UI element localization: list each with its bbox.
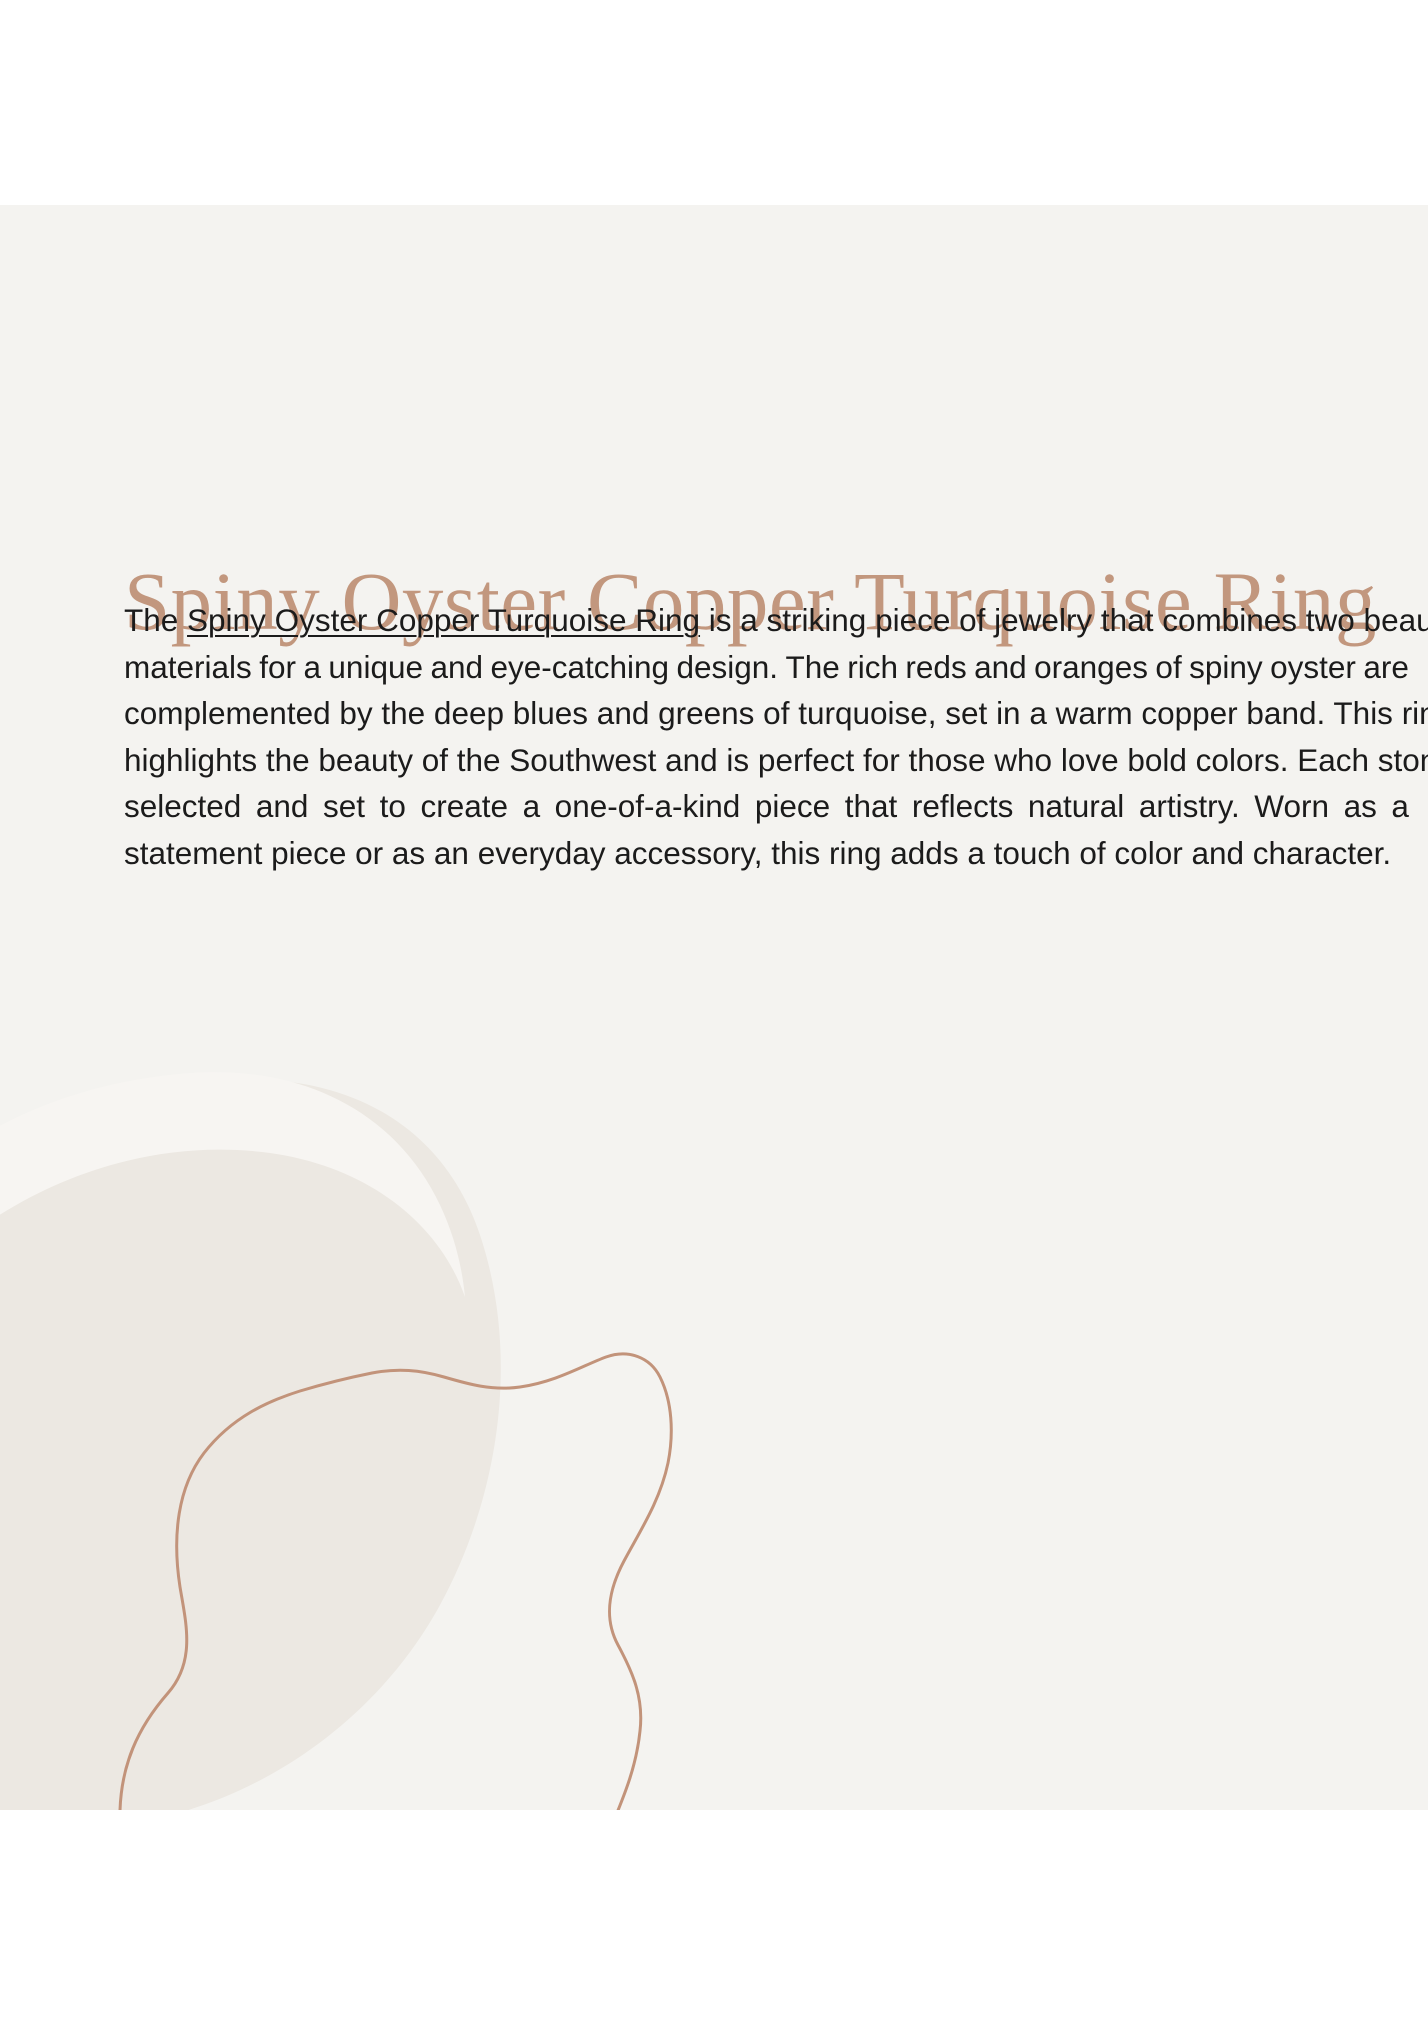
word: a (1391, 783, 1409, 830)
word: to (380, 783, 406, 830)
line-suffix-text: is a striking piece of jewelry that comb… (700, 602, 1428, 638)
word: create (420, 783, 508, 830)
word: eye-catching (490, 644, 669, 691)
word: are (1363, 644, 1409, 691)
blob-highlight-arc (0, 1072, 465, 1325)
paragraph-line: complemented by the deep blues and green… (124, 690, 1428, 737)
paragraph-line: selected and set to create a one-of-a-ki… (124, 783, 1409, 830)
word: Worn (1254, 783, 1329, 830)
word: of (1155, 644, 1181, 691)
word: design. (676, 644, 778, 691)
word: unique (328, 644, 423, 691)
word: piece (755, 783, 830, 830)
paragraph-line: The Spiny Oyster Copper Turquoise Ring i… (124, 597, 1428, 644)
word: artistry. (1139, 783, 1240, 830)
paragraph-line: highlights the beauty of the Southwest a… (124, 737, 1428, 784)
line-prefix-text: The (124, 602, 187, 638)
word: and (256, 783, 309, 830)
word: natural (1028, 783, 1124, 830)
word: one-of-a-kind (555, 783, 741, 830)
word: oyster (1270, 644, 1356, 691)
word: selected (124, 783, 241, 830)
word: reflects (912, 783, 1014, 830)
word: that (845, 783, 898, 830)
word: oranges (1034, 644, 1148, 691)
word: and (430, 644, 483, 691)
word: spiny (1189, 644, 1263, 691)
word: reds (905, 644, 966, 691)
decorative-art-layer (0, 205, 1428, 1810)
word: and (974, 644, 1027, 691)
word: for (259, 644, 296, 691)
paragraph-line: statement piece or as an everyday access… (124, 830, 1428, 877)
word: rich (847, 644, 898, 691)
product-description: The Spiny Oyster Copper Turquoise Ring i… (124, 597, 1428, 876)
document-page: Spiny Oyster Copper Turquoise Ring The S… (0, 0, 1428, 2018)
word: materials (124, 644, 252, 691)
paragraph-line: materials for a unique and eye-catching … (124, 644, 1409, 691)
copper-squiggle-line (120, 1354, 671, 1810)
word: set (323, 783, 365, 830)
content-panel: Spiny Oyster Copper Turquoise Ring The S… (0, 205, 1428, 1810)
word: a (303, 644, 321, 691)
word: a (523, 783, 541, 830)
product-link[interactable]: Spiny Oyster Copper Turquoise Ring (187, 602, 700, 638)
beige-blob-shape (0, 1079, 501, 1810)
word: as (1344, 783, 1377, 830)
word: The (786, 644, 840, 691)
